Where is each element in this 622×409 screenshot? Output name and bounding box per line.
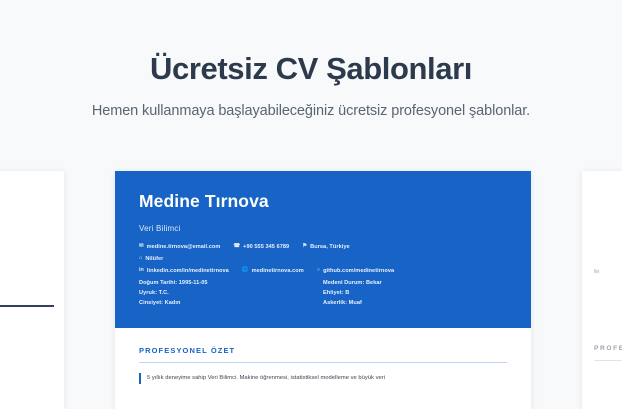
- cv-contact-district-text: Nilüfer: [145, 256, 163, 262]
- cv-personal-marital-status: Medeni Durum: Bekar: [323, 280, 507, 286]
- cv-body: PROFESYONEL ÖZET 5 yıllık deneyime sahip…: [115, 328, 531, 384]
- cv-contact-location-text: Bursa, Türkiye: [310, 244, 350, 250]
- cv-personal-column-left: Doğum Tarihi: 1995-11-05 Uyruk: T.C. Cin…: [139, 280, 323, 310]
- cv-role: Veri Bilimci: [139, 224, 507, 233]
- cv-name: Medine Tırnova: [139, 191, 507, 212]
- page-title: Ücretsiz CV Şablonları: [0, 0, 622, 87]
- envelope-icon: ✉: [139, 244, 144, 249]
- cv-link-website-text: medinetirnova.com: [252, 268, 304, 274]
- phone-icon: ☎: [233, 244, 240, 249]
- template-card-active[interactable]: Medine Tırnova Veri Bilimci ✉ medine.tir…: [115, 171, 531, 409]
- template-card-next[interactable]: lin PROFE: [582, 171, 622, 409]
- cv-summary-text: 5 yıllık deneyime sahip Veri Bilimci. Ma…: [139, 373, 507, 383]
- cv-header: Medine Tırnova Veri Bilimci ✉ medine.tir…: [115, 171, 531, 328]
- cv-link-github-text: github.com/medinetirnova: [323, 268, 394, 274]
- building-icon: ⌂: [139, 256, 142, 261]
- hero-section: Ücretsiz CV Şablonları Hemen kullanmaya …: [0, 0, 622, 119]
- linkedin-icon: in: [139, 268, 144, 273]
- cv-contact-district: ⌂ Nilüfer: [139, 256, 163, 262]
- cv-contact-email-text: medine.tirnova@email.com: [147, 244, 221, 250]
- page-root: Ücretsiz CV Şablonları Hemen kullanmaya …: [0, 0, 622, 409]
- globe-icon: 🌐: [242, 268, 249, 273]
- peek-line: ye: [0, 229, 54, 235]
- cv-contact-phone-text: +90 555 345 6789: [243, 244, 289, 250]
- cv-contact-email[interactable]: ✉ medine.tirnova@email.com: [139, 244, 220, 250]
- cv-personal-driving-license: Ehliyet: B: [323, 290, 507, 296]
- cv-personal-nationality: Uyruk: T.C.: [139, 290, 323, 296]
- location-pin-icon: ⚑: [302, 244, 307, 249]
- cv-link-github[interactable]: ○ github.com/medinetirnova: [317, 268, 394, 274]
- cv-link-linkedin[interactable]: in linkedin.com/in/medinetirnova: [139, 268, 229, 274]
- divider: [0, 305, 54, 307]
- cv-personal-gender: Cinsiyet: Kadın: [139, 300, 323, 306]
- cv-section-title-summary: PROFESYONEL ÖZET: [139, 346, 507, 355]
- divider: [594, 360, 622, 361]
- cv-personal-column-right: Medeni Durum: Bekar Ehliyet: B Askerlik:…: [323, 280, 507, 310]
- template-card-previous[interactable]: ye dinetirnova: [0, 171, 64, 409]
- cv-contact-row-3: in linkedin.com/in/medinetirnova 🌐 medin…: [139, 268, 507, 274]
- peek-line: lin: [594, 269, 622, 275]
- cv-personal-military-service: Askerlik: Muaf: [323, 300, 507, 306]
- github-icon: ○: [317, 268, 320, 273]
- page-subtitle: Hemen kullanmaya başlayabileceğiniz ücre…: [0, 87, 622, 119]
- divider: [139, 362, 507, 363]
- template-card-previous-content: ye dinetirnova: [0, 171, 64, 307]
- cv-contact-row-1: ✉ medine.tirnova@email.com ☎ +90 555 345…: [139, 244, 507, 250]
- template-card-next-content: lin PROFE: [582, 171, 622, 361]
- cv-contact-phone[interactable]: ☎ +90 555 345 6789: [233, 244, 289, 250]
- cv-link-website[interactable]: 🌐 medinetirnova.com: [242, 268, 304, 274]
- cv-link-linkedin-text: linkedin.com/in/medinetirnova: [147, 268, 229, 274]
- peek-section-title: PROFE: [594, 345, 622, 352]
- peek-line: dinetirnova: [0, 259, 54, 265]
- template-carousel: ye dinetirnova Medine Tırnova Veri Bilim…: [0, 171, 622, 409]
- cv-personal-details: Doğum Tarihi: 1995-11-05 Uyruk: T.C. Cin…: [139, 280, 507, 310]
- cv-contact-location: ⚑ Bursa, Türkiye: [302, 244, 349, 250]
- cv-contact-row-2: ⌂ Nilüfer: [139, 256, 507, 262]
- cv-personal-birthdate: Doğum Tarihi: 1995-11-05: [139, 280, 323, 286]
